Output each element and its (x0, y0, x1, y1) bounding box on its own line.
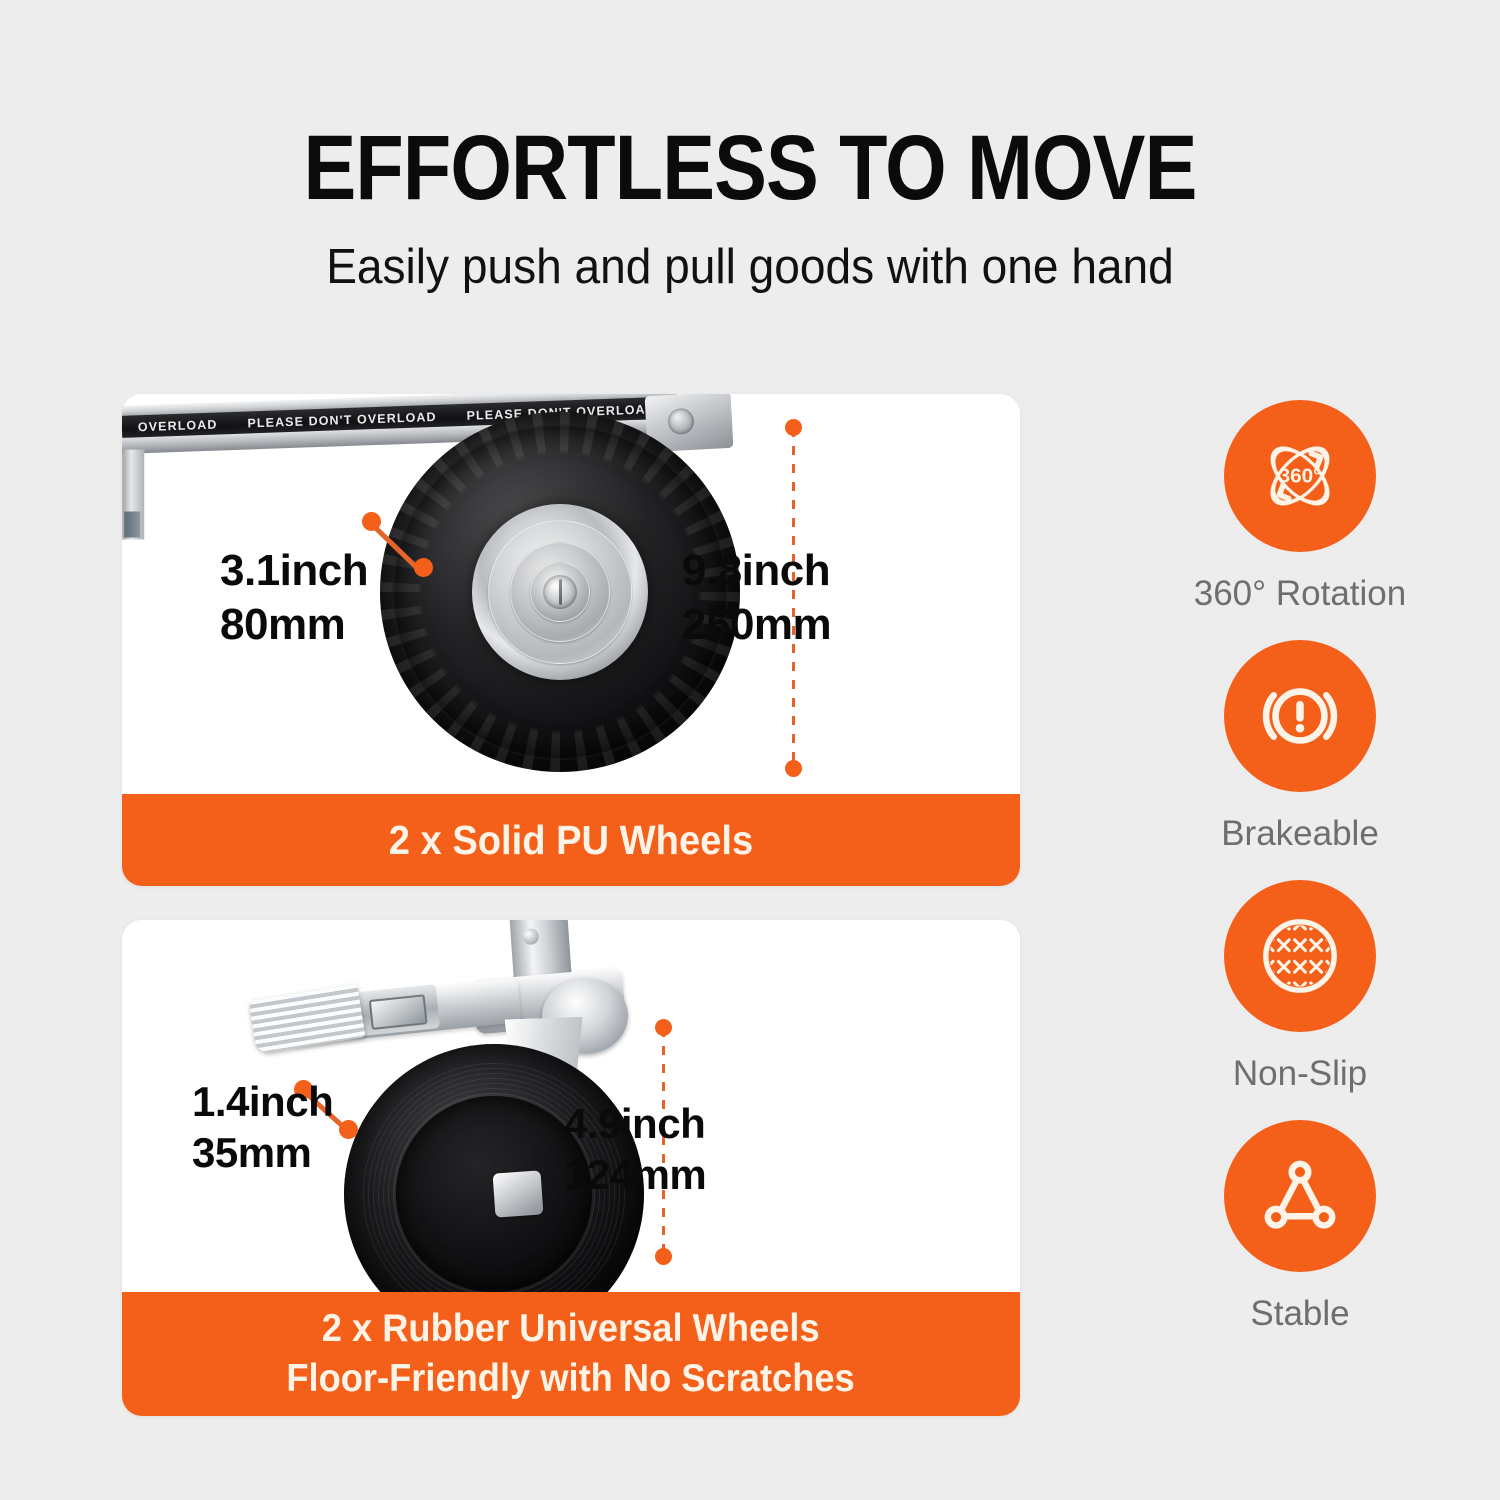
brake-pedal (248, 984, 365, 1055)
diameter-mm-value: 250mm (682, 598, 831, 652)
feature-icon-badge (1224, 1120, 1376, 1272)
rotation-360-icon: 360° (1253, 429, 1347, 523)
page-subtitle: Easily push and pull goods with one hand (45, 239, 1455, 295)
width-inch-value: 3.1inch (220, 544, 368, 598)
caption-line: 2 x Solid PU Wheels (389, 817, 753, 864)
diameter-dimension-label: 4.9inch 124mm (564, 1098, 706, 1200)
card-caption-banner: 2 x Solid PU Wheels (122, 794, 1020, 886)
diameter-mm-value: 124mm (564, 1149, 706, 1200)
dimension-endpoint-dot (339, 1120, 358, 1139)
width-dimension-label: 1.4inch 35mm (192, 1076, 333, 1178)
product-photo-solid-pu-wheel: OVERLOAD PLEASE DON'T OVERLOAD PLEASE DO… (122, 394, 1020, 794)
feature-list: 360° 360° Rotation Brakeable (1120, 400, 1480, 1360)
triangle-nodes-icon (1254, 1150, 1346, 1242)
feature-item-360-rotation: 360° 360° Rotation (1120, 400, 1480, 614)
tread-pattern-icon (1255, 911, 1345, 1001)
brake-mechanism-housing (358, 984, 440, 1036)
feature-item-brakeable: Brakeable (1120, 640, 1480, 854)
feature-item-stable: Stable (1120, 1120, 1480, 1334)
feature-label: Stable (1120, 1294, 1480, 1334)
dimension-endpoint-dot (414, 558, 433, 577)
width-inch-value: 1.4inch (192, 1076, 333, 1127)
width-dimension-label: 3.1inch 80mm (220, 544, 368, 651)
rail-warning-label: OVERLOAD (138, 417, 218, 434)
diameter-inch-value: 4.9inch (564, 1098, 706, 1149)
dimension-endpoint-dot (655, 1248, 672, 1265)
product-photo-swivel-caster: 1.4inch 35mm 4.9inch 124mm (122, 920, 1020, 1292)
feature-icon-badge: 360° (1224, 400, 1376, 552)
feature-label: Non-Slip (1120, 1054, 1480, 1094)
brake-warning-icon (1253, 669, 1347, 763)
width-mm-value: 35mm (192, 1127, 333, 1178)
caption-line: 2 x Rubber Universal Wheels (322, 1304, 820, 1354)
dimension-endpoint-dot (655, 1019, 672, 1036)
feature-label: 360° Rotation (1120, 574, 1480, 614)
header: EFFORTLESS TO MOVE Easily push and pull … (0, 0, 1500, 295)
product-card-rubber-universal-wheels: 1.4inch 35mm 4.9inch 124mm 2 x Rubber Un… (122, 920, 1020, 1416)
width-dimension-marker (362, 512, 432, 576)
card-caption-banner: 2 x Rubber Universal Wheels Floor-Friend… (122, 1292, 1020, 1416)
caster-axle-nut (493, 1170, 544, 1217)
hub-ring (530, 562, 590, 622)
hub-ring (510, 542, 610, 642)
caption-line: Floor-Friendly with No Scratches (287, 1354, 855, 1404)
page-title: EFFORTLESS TO MOVE (105, 120, 1395, 217)
width-mm-value: 80mm (220, 598, 368, 652)
feature-icon-badge (1224, 880, 1376, 1032)
diameter-inch-value: 9.8inch (682, 544, 831, 598)
feature-item-non-slip: Non-Slip (1120, 880, 1480, 1094)
feature-icon-badge (1224, 640, 1376, 792)
product-card-solid-pu-wheels: OVERLOAD PLEASE DON'T OVERLOAD PLEASE DO… (122, 394, 1020, 886)
feature-label: Brakeable (1120, 814, 1480, 854)
svg-text:360°: 360° (1279, 465, 1322, 488)
dimension-endpoint-dot (785, 760, 802, 777)
rail-side-post (122, 450, 144, 540)
hub-ring (488, 520, 632, 664)
dimension-endpoint-dot (362, 512, 381, 531)
dimension-endpoint-dot (785, 419, 802, 436)
diameter-dimension-label: 9.8inch 250mm (682, 544, 831, 651)
steel-hub (472, 504, 648, 680)
hub-center-bolt (543, 575, 577, 609)
